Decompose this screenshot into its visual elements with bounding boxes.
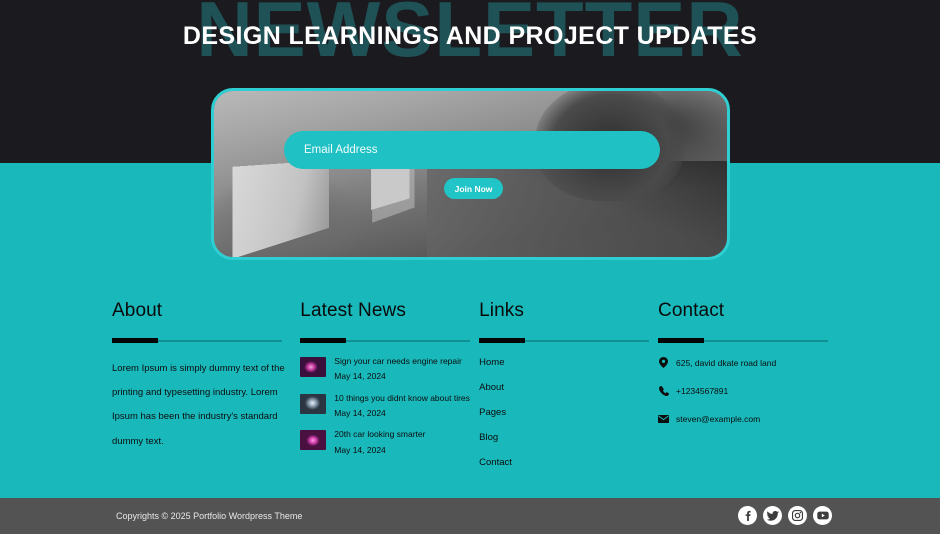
nav-link-contact[interactable]: Contact	[479, 457, 658, 468]
news-title[interactable]: 10 things you didnt know about tires	[334, 394, 470, 403]
news-thumbnail-icon	[300, 430, 326, 450]
divider-dark-segment	[658, 338, 704, 343]
contact-phone: +1234567891	[658, 385, 828, 396]
latest-news-column: Latest News Sign your car needs engine r…	[300, 300, 479, 482]
join-now-button[interactable]: Join Now	[444, 178, 503, 199]
divider-dark-segment	[300, 338, 346, 343]
subscribe-card: Join Now	[211, 88, 730, 260]
links-title: Links	[479, 300, 658, 322]
contact-address-text: 625, david dkate road land	[676, 358, 776, 368]
news-date: May 14, 2024	[334, 372, 462, 381]
page-title: DESIGN LEARNINGS AND PROJECT UPDATES	[0, 22, 940, 51]
contact-column: Contact 625, david dkate road land +1234…	[658, 300, 828, 482]
contact-email: steven@example.com	[658, 413, 828, 424]
contact-title: Contact	[658, 300, 828, 322]
newsletter-footer-page: NEWSLETTER DESIGN LEARNINGS AND PROJECT …	[0, 0, 940, 534]
phone-icon	[658, 385, 669, 396]
about-divider	[112, 338, 282, 343]
list-item[interactable]: 10 things you didnt know about tires May…	[300, 394, 479, 419]
divider-line-segment	[525, 340, 649, 342]
divider-dark-segment	[112, 338, 158, 343]
copyright-text: Copyrights © 2025 Portfolio Wordpress Th…	[116, 511, 302, 521]
news-title[interactable]: Sign your car needs engine repair	[334, 357, 462, 366]
links-divider	[479, 338, 649, 343]
list-item[interactable]: Sign your car needs engine repair May 14…	[300, 357, 479, 382]
location-pin-icon	[658, 357, 669, 368]
news-thumbnail-icon	[300, 394, 326, 414]
news-divider	[300, 338, 470, 343]
contact-divider	[658, 338, 828, 343]
footer-bar: Copyrights © 2025 Portfolio Wordpress Th…	[0, 498, 940, 534]
nav-link-blog[interactable]: Blog	[479, 432, 658, 443]
email-input[interactable]	[284, 131, 660, 169]
divider-line-segment	[704, 340, 828, 342]
about-column: About Lorem Ipsum is simply dummy text o…	[112, 300, 300, 482]
about-title: About	[112, 300, 300, 322]
youtube-icon[interactable]	[813, 506, 832, 525]
nav-link-home[interactable]: Home	[479, 357, 658, 368]
news-date: May 14, 2024	[334, 409, 470, 418]
news-text-group: 20th car looking smarter May 14, 2024	[334, 430, 425, 455]
nav-link-about[interactable]: About	[479, 382, 658, 393]
links-column: Links Home About Pages Blog Contact	[479, 300, 658, 482]
about-text: Lorem Ipsum is simply dummy text of the …	[112, 357, 292, 454]
latest-news-title: Latest News	[300, 300, 479, 322]
divider-line-segment	[346, 340, 470, 342]
twitter-icon[interactable]	[763, 506, 782, 525]
divider-line-segment	[158, 340, 282, 342]
contact-address: 625, david dkate road land	[658, 357, 828, 368]
news-date: May 14, 2024	[334, 446, 425, 455]
list-item[interactable]: 20th car looking smarter May 14, 2024	[300, 430, 479, 455]
nav-link-pages[interactable]: Pages	[479, 407, 658, 418]
social-links	[738, 506, 832, 525]
contact-phone-text: +1234567891	[676, 386, 728, 396]
divider-dark-segment	[479, 338, 525, 343]
news-text-group: 10 things you didnt know about tires May…	[334, 394, 470, 419]
envelope-icon	[658, 413, 669, 424]
contact-email-text: steven@example.com	[676, 414, 760, 424]
footer-columns: About Lorem Ipsum is simply dummy text o…	[0, 300, 940, 482]
news-text-group: Sign your car needs engine repair May 14…	[334, 357, 462, 382]
facebook-icon[interactable]	[738, 506, 757, 525]
instagram-icon[interactable]	[788, 506, 807, 525]
news-thumbnail-icon	[300, 357, 326, 377]
news-title[interactable]: 20th car looking smarter	[334, 430, 425, 439]
